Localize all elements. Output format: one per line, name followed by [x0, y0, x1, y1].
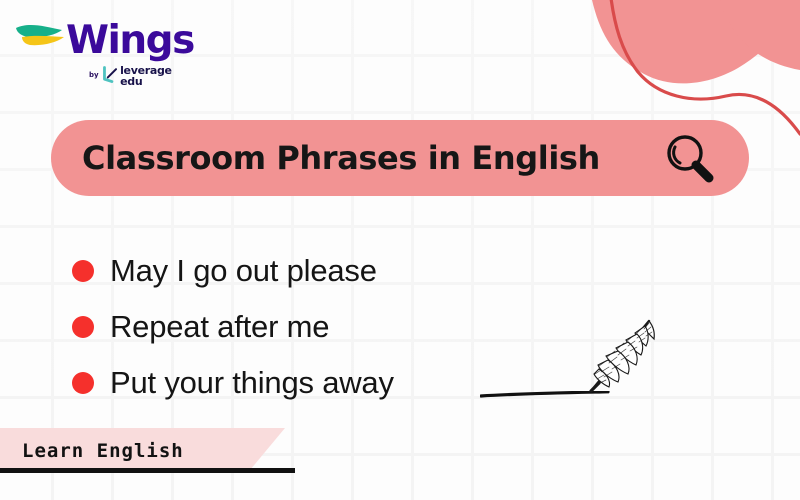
list-item-label: Put your things away — [110, 365, 394, 401]
bullet-icon — [72, 260, 94, 282]
logo-subbrand: by leverage edu — [89, 64, 184, 87]
slide-card: Wings by leverage edu Classroom Phrases … — [0, 0, 800, 500]
list-item-label: Repeat after me — [110, 309, 329, 345]
list-item-label: May I go out please — [110, 253, 377, 289]
phrase-list: May I go out please Repeat after me Put … — [72, 243, 394, 411]
magnifying-glass-icon[interactable] — [664, 133, 716, 183]
list-item: Put your things away — [72, 355, 394, 411]
logo-by-label: by — [89, 71, 99, 79]
leverage-check-icon — [102, 64, 119, 86]
logo-subbrand-label: leverage edu — [120, 65, 184, 87]
bullet-icon — [72, 372, 94, 394]
list-item: May I go out please — [72, 243, 394, 299]
footer-rule — [0, 468, 295, 473]
brand-logo: Wings by leverage edu — [14, 22, 184, 102]
footer-label: Learn English — [22, 440, 184, 462]
list-item: Repeat after me — [72, 299, 394, 355]
logo-wordmark: Wings — [66, 18, 194, 64]
page-title: Classroom Phrases in English — [82, 139, 600, 177]
feather-quill-icon — [587, 312, 659, 394]
bullet-icon — [72, 316, 94, 338]
wings-swoosh-icon — [14, 24, 72, 56]
title-pill: Classroom Phrases in English — [51, 120, 749, 196]
logo-wordmark-row: Wings — [14, 22, 184, 68]
